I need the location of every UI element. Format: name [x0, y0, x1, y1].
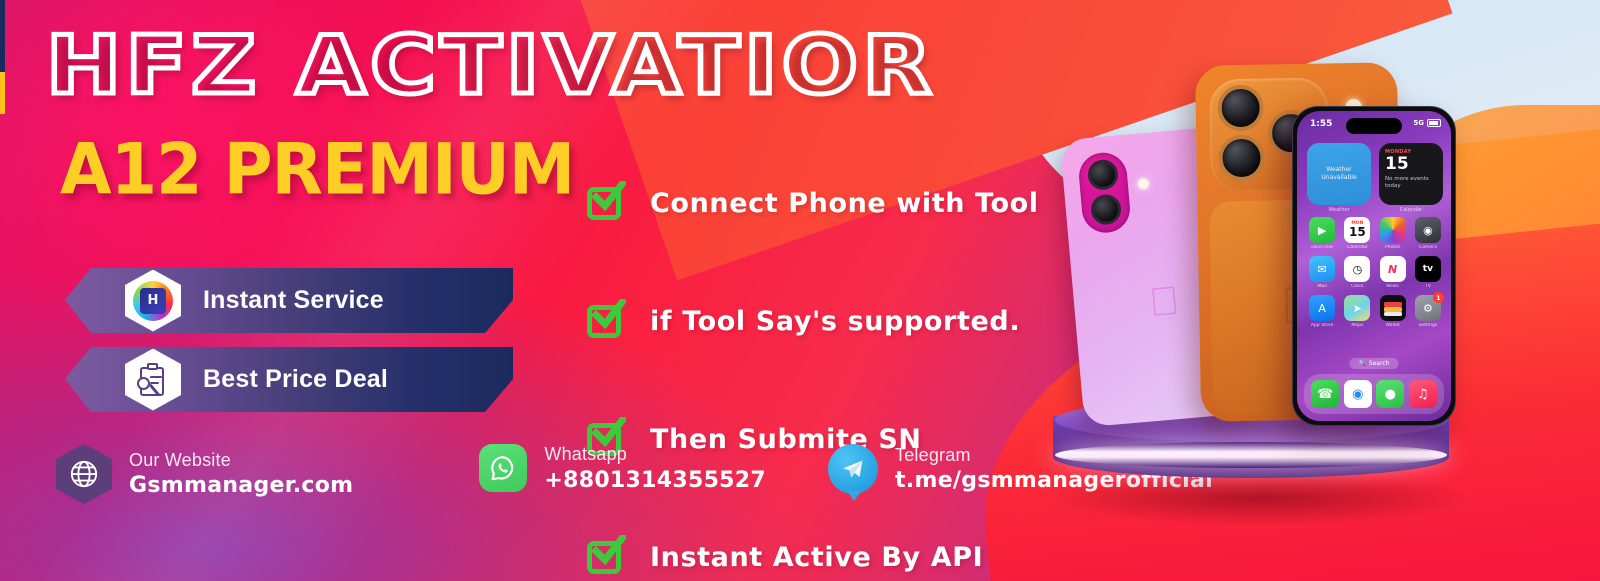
page-title-inner-outline: HFZ ACTIVATIOR: [46, 26, 936, 106]
widget-labels: Weather Calendar: [1307, 207, 1443, 213]
dynamic-island: [1346, 118, 1402, 134]
checkbox-checked-icon: [586, 301, 628, 341]
checklist-item-text: if Tool Say's supported.: [650, 306, 1020, 337]
feature-badge-list: H Instant Service Best Price Deal: [65, 268, 513, 426]
app-settings[interactable]: ⚙ 1 Settings: [1413, 295, 1443, 328]
app-grid: ▶ FaceTime MON 15 Calendar Photos: [1307, 217, 1443, 328]
status-bar-time: 1:55: [1310, 119, 1332, 129]
globe-icon: [56, 444, 112, 504]
contact-whatsapp[interactable]: Whatsapp +8801314355527: [479, 444, 766, 493]
search-pill[interactable]: 🔍 Search: [1349, 358, 1398, 369]
calendar-note: No more events today: [1385, 176, 1437, 191]
facetime-icon: ▶: [1309, 217, 1335, 243]
app-camera[interactable]: ◉ Camera: [1413, 217, 1443, 250]
phone-front-screen: 1:55 5G Weather Unavailable MONDAY 15 No…: [1292, 106, 1456, 426]
checklist-item: if Tool Say's supported.: [586, 292, 1039, 350]
checkbox-checked-icon: [586, 537, 628, 577]
app-label: App Store: [1307, 323, 1337, 328]
feature-badge-label: Best Price Deal: [203, 365, 388, 394]
app-label: Settings: [1413, 323, 1443, 328]
product-showcase:   1:55 5G: [1020, 40, 1490, 500]
notification-badge: 1: [1433, 292, 1444, 303]
feature-badge-label: Instant Service: [203, 286, 384, 315]
contact-label: Our Website: [129, 450, 353, 471]
app-label: Camera: [1413, 245, 1443, 250]
page-subtitle: A12 PREMIUM: [60, 134, 574, 205]
phone-icon[interactable]: ☎: [1311, 380, 1339, 408]
contact-website[interactable]: Our Website Gsmmanager.com: [56, 444, 353, 504]
contact-value: +8801314355527: [544, 468, 766, 493]
hfz-activator-logo-icon: H: [125, 270, 181, 332]
calendar-icon-date: 15: [1349, 226, 1366, 238]
app-label: Mail: [1307, 284, 1337, 289]
music-icon[interactable]: ♫: [1409, 380, 1437, 408]
app-mail[interactable]: ✉ Mail: [1307, 256, 1337, 289]
contact-value: Gsmmanager.com: [129, 473, 353, 498]
appstore-icon: A: [1309, 295, 1335, 321]
pink-flash-icon: [1137, 178, 1149, 190]
search-icon: 🔍: [1358, 360, 1365, 367]
weather-widget[interactable]: Weather Unavailable: [1307, 143, 1371, 205]
checklist-item: Connect Phone with Tool: [586, 174, 1039, 232]
weather-widget-text: Weather Unavailable: [1313, 166, 1365, 182]
wallet-icon: [1380, 295, 1406, 321]
checklist-item-text: Connect Phone with Tool: [650, 188, 1039, 219]
promo-banner: HFZ ACTIVATIOR HFZ ACTIVATIOR A12 PREMIU…: [0, 0, 1600, 581]
feature-badge-instant-service[interactable]: H Instant Service: [65, 268, 513, 333]
app-news[interactable]: N News: [1378, 256, 1408, 289]
app-label: Photos: [1378, 245, 1408, 250]
calendar-icon: MON 15: [1344, 217, 1370, 243]
mail-icon: ✉: [1309, 256, 1335, 282]
appletv-icon: tv: [1415, 256, 1441, 282]
app-calendar[interactable]: MON 15 Calendar: [1342, 217, 1372, 250]
maps-icon: ➤: [1344, 295, 1370, 321]
pink-camera-module: [1077, 151, 1132, 235]
settings-icon: ⚙ 1: [1415, 295, 1441, 321]
app-label: Maps: [1342, 323, 1372, 328]
calendar-date: 15: [1385, 156, 1437, 173]
status-bar-right: 5G: [1413, 119, 1441, 127]
safari-icon[interactable]: ◉: [1344, 380, 1372, 408]
edge-yellow-strip: [0, 72, 5, 114]
news-icon: N: [1380, 256, 1406, 282]
app-facetime[interactable]: ▶ FaceTime: [1307, 217, 1337, 250]
app-label: Clock: [1342, 284, 1372, 289]
checklist-item: Instant Active By API: [586, 528, 1039, 581]
app-label: FaceTime: [1307, 245, 1337, 250]
search-label: Search: [1369, 360, 1390, 367]
apple-logo-icon: : [1145, 280, 1185, 325]
photos-icon: [1380, 217, 1406, 243]
app-label: News: [1378, 284, 1408, 289]
checklist: Connect Phone with Tool if Tool Say's su…: [586, 174, 1039, 581]
checklist-item-text: Instant Active By API: [650, 542, 983, 573]
app-appletv[interactable]: tv TV: [1413, 256, 1443, 289]
feature-badge-best-price-deal[interactable]: Best Price Deal: [65, 347, 513, 412]
left-edge-sliver: [0, 0, 5, 581]
app-label: Wallet: [1378, 323, 1408, 328]
camera-icon: ◉: [1415, 217, 1441, 243]
contact-label: Whatsapp: [544, 444, 766, 465]
carrier-label: 5G: [1413, 119, 1424, 127]
battery-icon: [1427, 119, 1441, 127]
edge-navy-strip: [0, 0, 5, 72]
app-wallet[interactable]: Wallet: [1378, 295, 1408, 328]
calendar-widget[interactable]: MONDAY 15 No more events today: [1379, 143, 1443, 205]
podium-neon-ring: [1055, 442, 1447, 468]
calendar-widget-label: Calendar: [1379, 207, 1443, 213]
app-photos[interactable]: Photos: [1378, 217, 1408, 250]
clipboard-gear-pen-icon: [125, 349, 181, 411]
whatsapp-icon: [479, 444, 527, 492]
telegram-icon: [828, 444, 878, 494]
app-label: TV: [1413, 284, 1443, 289]
app-maps[interactable]: ➤ Maps: [1342, 295, 1372, 328]
messages-icon[interactable]: ●: [1376, 380, 1404, 408]
app-label: Calendar: [1342, 245, 1372, 250]
home-dock: ☎ ◉ ● ♫: [1304, 374, 1444, 414]
home-widgets: Weather Unavailable MONDAY 15 No more ev…: [1307, 143, 1443, 205]
app-appstore[interactable]: A App Store: [1307, 295, 1337, 328]
app-clock[interactable]: ◷ Clock: [1342, 256, 1372, 289]
checkbox-checked-icon: [586, 183, 628, 223]
weather-widget-label: Weather: [1307, 207, 1371, 213]
clock-icon: ◷: [1344, 256, 1370, 282]
